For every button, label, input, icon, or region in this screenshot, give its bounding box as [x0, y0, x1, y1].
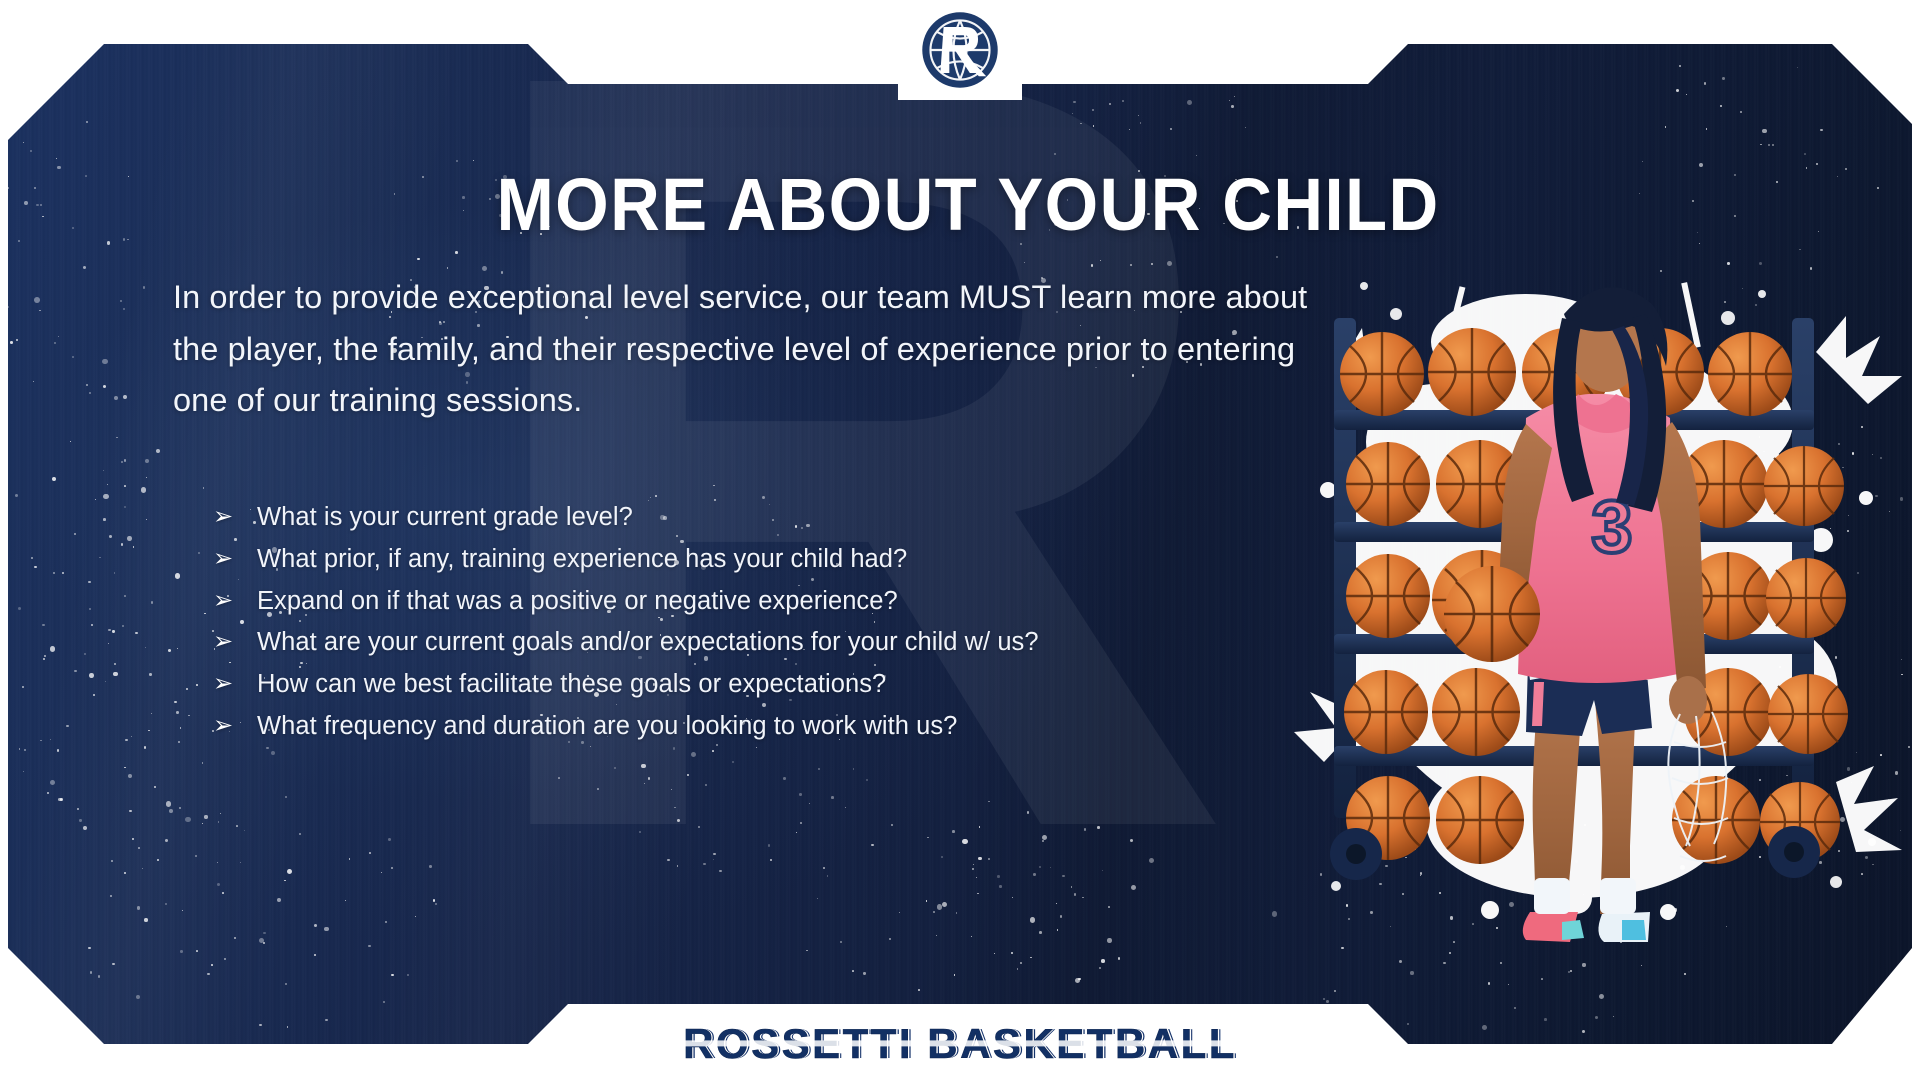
footer-wordmark: ROSSETTI BASKETBALL — [683, 1020, 1237, 1067]
footer-brand-banner: ROSSETTI BASKETBALL — [630, 1008, 1290, 1080]
question-text: What is your current grade level? — [257, 497, 633, 538]
question-item: ➢What are your current goals and/or expe… — [213, 622, 1373, 664]
rossetti-r-monogram-basketball-icon — [919, 9, 1001, 91]
question-text: What prior, if any, training experience … — [257, 539, 907, 580]
question-item: ➢What is your current grade level? — [213, 497, 1373, 539]
arrow-bullet-icon: ➢ — [213, 497, 235, 538]
navy-background-panel: R MORE ABOUT YOUR CHILD In order to prov… — [8, 44, 1912, 1044]
arrow-bullet-icon: ➢ — [213, 581, 235, 622]
intro-paragraph: In order to provide exceptional level se… — [173, 272, 1308, 427]
question-text: What frequency and duration are you look… — [257, 706, 957, 747]
svg-text:3: 3 — [1591, 485, 1632, 568]
question-list: ➢What is your current grade level?➢What … — [213, 497, 1373, 748]
question-item: ➢Expand on if that was a positive or neg… — [213, 581, 1373, 623]
arrow-bullet-icon: ➢ — [213, 706, 235, 747]
rossetti-logo-badge[interactable] — [898, 0, 1022, 100]
question-text: How can we best facilitate these goals o… — [257, 664, 886, 705]
arrow-bullet-icon: ➢ — [213, 664, 235, 705]
question-item: ➢What prior, if any, training experience… — [213, 539, 1373, 581]
page-title: MORE ABOUT YOUR CHILD — [75, 162, 1861, 247]
question-item: ➢How can we best facilitate these goals … — [213, 664, 1373, 706]
question-item: ➢What frequency and duration are you loo… — [213, 706, 1373, 748]
question-text: Expand on if that was a positive or nega… — [257, 581, 898, 622]
slide-canvas: R MORE ABOUT YOUR CHILD In order to prov… — [0, 0, 1920, 1080]
arrow-bullet-icon: ➢ — [213, 539, 235, 580]
question-text: What are your current goals and/or expec… — [257, 622, 1039, 663]
arrow-bullet-icon: ➢ — [213, 622, 235, 663]
